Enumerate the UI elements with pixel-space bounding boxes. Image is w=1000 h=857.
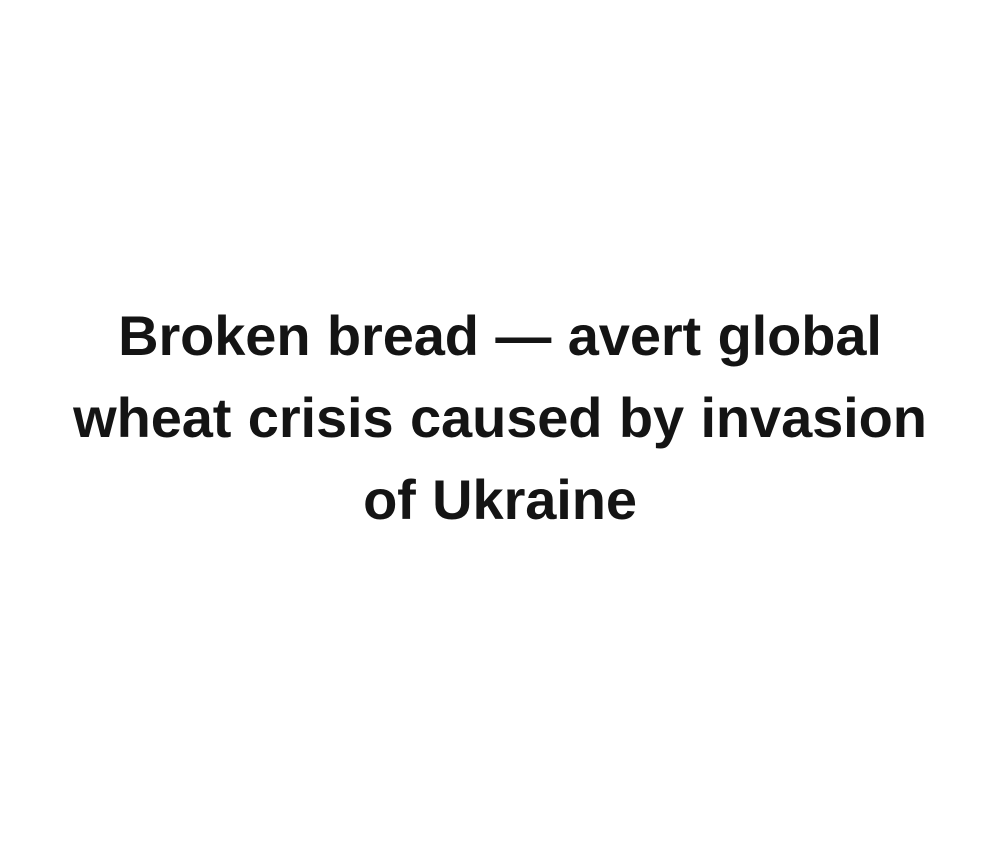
page-title: Broken bread — avert global wheat crisis… xyxy=(50,295,950,541)
headline-block: Broken bread — avert global wheat crisis… xyxy=(50,295,950,563)
slide-canvas: Broken bread — avert global wheat crisis… xyxy=(0,0,1000,857)
